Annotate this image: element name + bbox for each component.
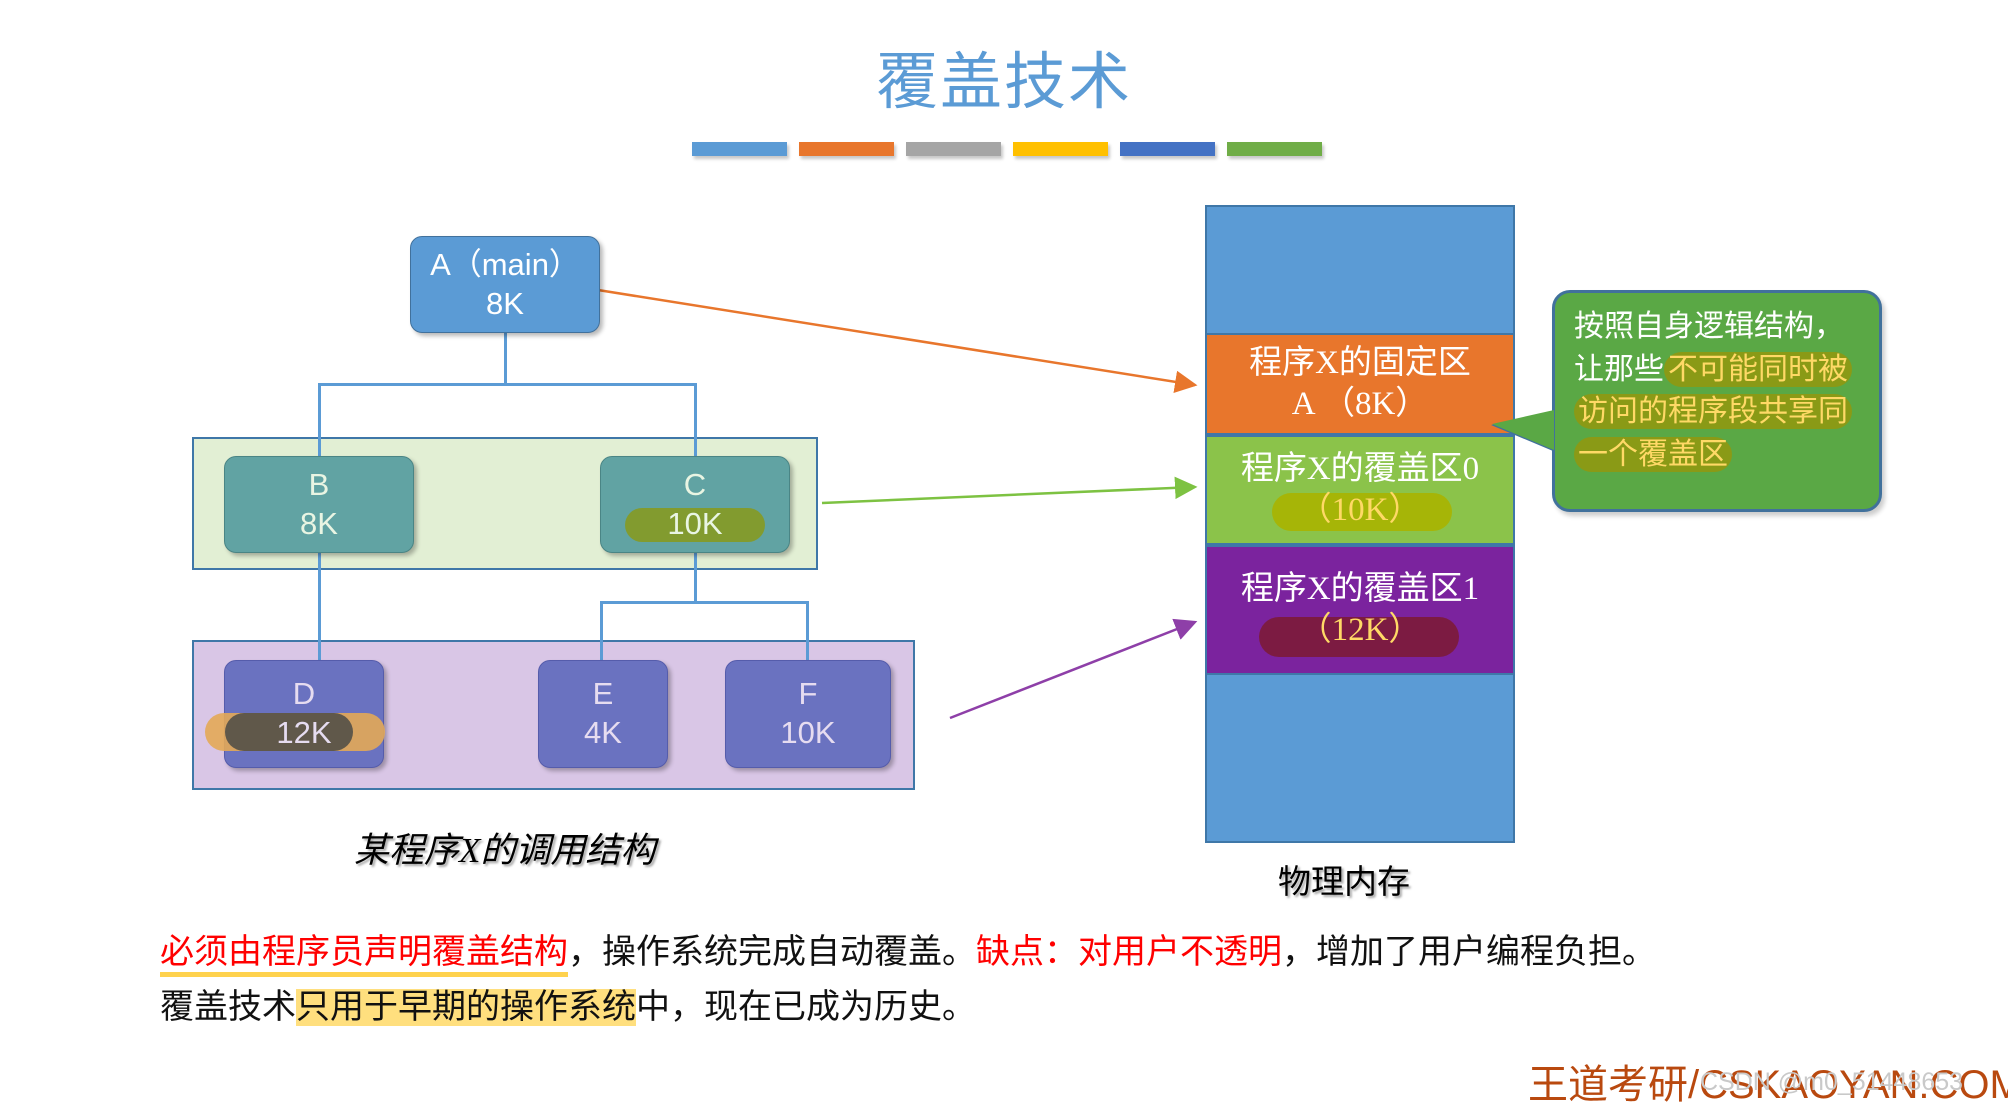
memory-block-overlay-0[interactable]: 程序X的覆盖区0 （10K） <box>1207 435 1513 545</box>
bottom-line2-highlight: 只用于早期的操作系统 <box>296 989 636 1026</box>
memory-block-overlay0-size: （10K） <box>1299 490 1422 531</box>
node-a-size: 8K <box>486 285 524 324</box>
title-decoration-bars <box>692 142 1322 156</box>
bottom-line1-plain2: ，增加了用户编程负担。 <box>1282 934 1656 971</box>
bar-yellow <box>1013 142 1108 156</box>
node-d-label: D <box>293 675 315 714</box>
memory-block-fixed-area[interactable]: 程序X的固定区 A （8K） <box>1207 333 1513 435</box>
connector-b-down <box>318 553 321 661</box>
connector-to-e <box>600 601 603 661</box>
bar-green <box>1227 142 1322 156</box>
bottom-paragraph: 必须由程序员声明覆盖结构，操作系统完成自动覆盖。缺点：对用户不透明，增加了用户编… <box>160 925 1920 1035</box>
watermark-csdn: CSDN @m0_51448653 <box>1700 1068 1963 1097</box>
node-c-label: C <box>684 466 706 505</box>
node-e-size: 4K <box>584 714 622 753</box>
node-d-size: 12K <box>276 714 331 753</box>
bar-navy <box>1120 142 1215 156</box>
tree-node-a[interactable]: A（main） 8K <box>410 236 600 333</box>
tree-node-c[interactable]: C 10K <box>600 456 790 553</box>
memory-block-fixed-size: A （8K） <box>1292 384 1429 425</box>
bottom-line1-red2: 缺点：对用户不透明 <box>976 934 1282 971</box>
bottom-line1-plain: ，操作系统完成自动覆盖。 <box>568 934 976 971</box>
connector-a-down <box>504 333 507 383</box>
arrow-group1-to-overlay1 <box>950 622 1195 718</box>
node-b-label: B <box>309 466 330 505</box>
memory-block-fixed-title: 程序X的固定区 <box>1249 343 1471 384</box>
memory-block-overlay1-title: 程序X的覆盖区1 <box>1241 569 1479 610</box>
node-f-label: F <box>799 675 818 714</box>
node-b-size: 8K <box>300 505 338 544</box>
callout-text: 按照自身逻辑结构，让那些不可能同时被访问的程序段共享同一个覆盖区 <box>1574 306 1868 476</box>
tree-caption: 某程序X的调用结构 <box>354 822 655 873</box>
connector-to-c <box>694 383 697 457</box>
arrow-group0-to-overlay0 <box>822 487 1195 503</box>
bar-blue <box>692 142 787 156</box>
bar-orange <box>799 142 894 156</box>
page-title: 覆盖技术 <box>0 52 2008 114</box>
bar-gray <box>906 142 1001 156</box>
connector-c-span <box>600 601 808 604</box>
bottom-line1-red-underlined: 必须由程序员声明覆盖结构 <box>160 934 568 977</box>
node-e-label: E <box>593 675 614 714</box>
tree-node-b[interactable]: B 8K <box>224 456 414 553</box>
memory-block-overlay1-size: （12K） <box>1299 610 1422 651</box>
bottom-line2-plain2: 中，现在已成为历史。 <box>636 989 976 1026</box>
connector-to-b <box>318 383 321 457</box>
tree-node-e[interactable]: E 4K <box>538 660 668 768</box>
memory-caption: 物理内存 <box>1278 855 1410 903</box>
memory-block-overlay-1[interactable]: 程序X的覆盖区1 （12K） <box>1207 545 1513 675</box>
memory-block-overlay0-title: 程序X的覆盖区0 <box>1241 449 1479 490</box>
slide-canvas: 覆盖技术 A（ <box>0 0 2008 1120</box>
connector-c-down <box>694 553 697 601</box>
physical-memory-column: 程序X的固定区 A （8K） 程序X的覆盖区0 （10K） 程序X的覆盖区1 （… <box>1205 205 1515 843</box>
node-f-size: 10K <box>780 714 835 753</box>
callout-bubble: 按照自身逻辑结构，让那些不可能同时被访问的程序段共享同一个覆盖区 <box>1552 290 1882 512</box>
connector-a-span <box>318 383 696 386</box>
bottom-line2-plain1: 覆盖技术 <box>160 989 296 1026</box>
node-a-label: A（main） <box>430 246 580 285</box>
arrow-a-to-fixed <box>598 290 1195 385</box>
callout-bubble-tail <box>1492 410 1554 450</box>
connector-to-f <box>806 601 809 661</box>
node-c-size: 10K <box>667 505 722 544</box>
tree-node-f[interactable]: F 10K <box>725 660 891 768</box>
